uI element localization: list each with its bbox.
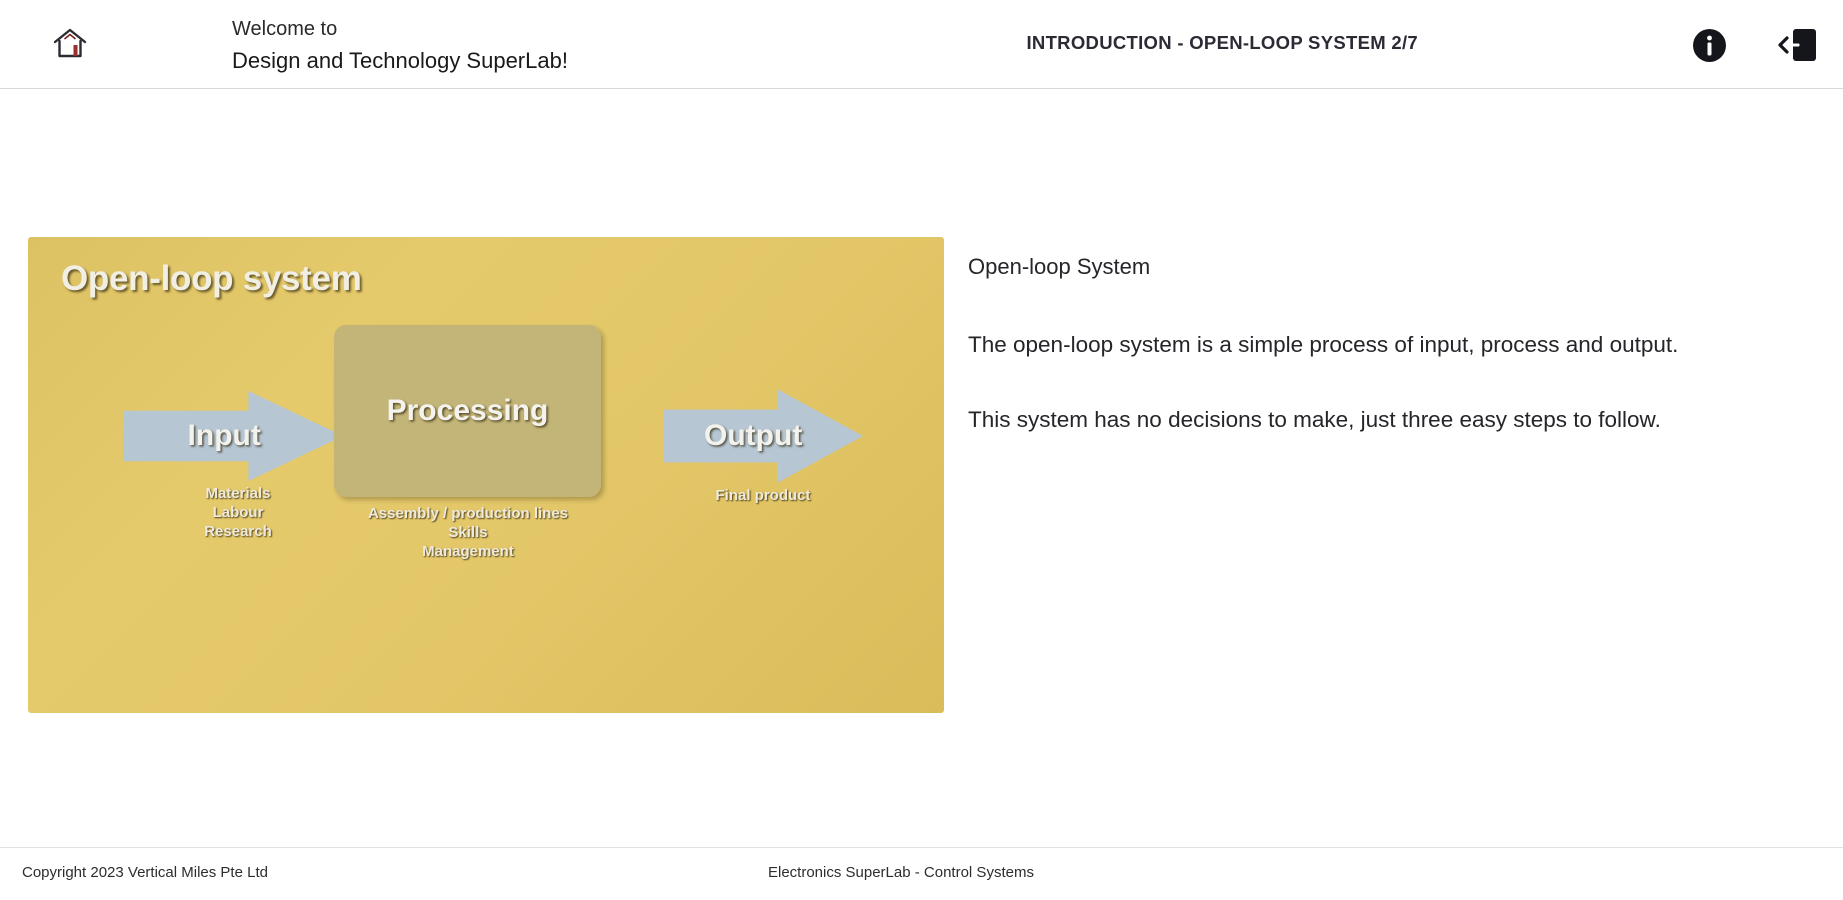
- main-content: Open-loop system Input Processing Output…: [0, 89, 1843, 769]
- welcome-line-2: Design and Technology SuperLab!: [232, 44, 568, 77]
- input-detail-1: Materials: [148, 485, 328, 504]
- input-label: Input: [188, 419, 261, 453]
- welcome-line-1: Welcome to: [232, 14, 568, 44]
- app-header: Welcome to Design and Technology SuperLa…: [0, 0, 1843, 89]
- lesson-heading: Open-loop System: [968, 254, 1788, 280]
- diagram-title: Open-loop system: [61, 259, 362, 299]
- output-arrow: Output: [663, 389, 863, 483]
- input-detail-2: Labour: [148, 504, 328, 523]
- home-icon: [52, 26, 88, 63]
- input-details: Materials Labour Research: [148, 485, 328, 542]
- open-loop-diagram: Open-loop system Input Processing Output…: [28, 237, 944, 713]
- output-details: Final product: [648, 487, 878, 506]
- app-footer: Copyright 2023 Vertical Miles Pte Ltd El…: [0, 847, 1843, 900]
- lesson-text-column: Open-loop System The open-loop system is…: [968, 254, 1788, 437]
- processing-label: Processing: [387, 394, 549, 428]
- lesson-paragraph-1: The open-loop system is a simple process…: [968, 328, 1788, 361]
- processing-box: Processing: [334, 325, 601, 497]
- exit-button[interactable]: [1778, 26, 1818, 64]
- footer-copyright: Copyright 2023 Vertical Miles Pte Ltd: [22, 864, 268, 881]
- processing-details: Assembly / production lines Skills Manag…: [318, 505, 618, 562]
- output-detail-1: Final product: [648, 487, 878, 506]
- exit-icon: [1778, 52, 1818, 67]
- welcome-block: Welcome to Design and Technology SuperLa…: [232, 14, 568, 78]
- input-detail-3: Research: [148, 523, 328, 542]
- input-arrow: Input: [123, 391, 343, 481]
- section-title: INTRODUCTION - OPEN-LOOP SYSTEM 2/7: [1026, 32, 1418, 54]
- home-button[interactable]: [42, 18, 98, 70]
- lesson-paragraph-2: This system has no decisions to make, ju…: [968, 403, 1788, 436]
- footer-course: Electronics SuperLab - Control Systems: [768, 864, 1034, 881]
- processing-detail-3: Management: [318, 543, 618, 562]
- output-label: Output: [704, 419, 802, 453]
- processing-detail-2: Skills: [318, 524, 618, 543]
- processing-detail-1: Assembly / production lines: [318, 505, 618, 524]
- app-page: Welcome to Design and Technology SuperLa…: [0, 0, 1843, 900]
- info-button[interactable]: [1692, 28, 1727, 63]
- info-icon: [1692, 51, 1727, 66]
